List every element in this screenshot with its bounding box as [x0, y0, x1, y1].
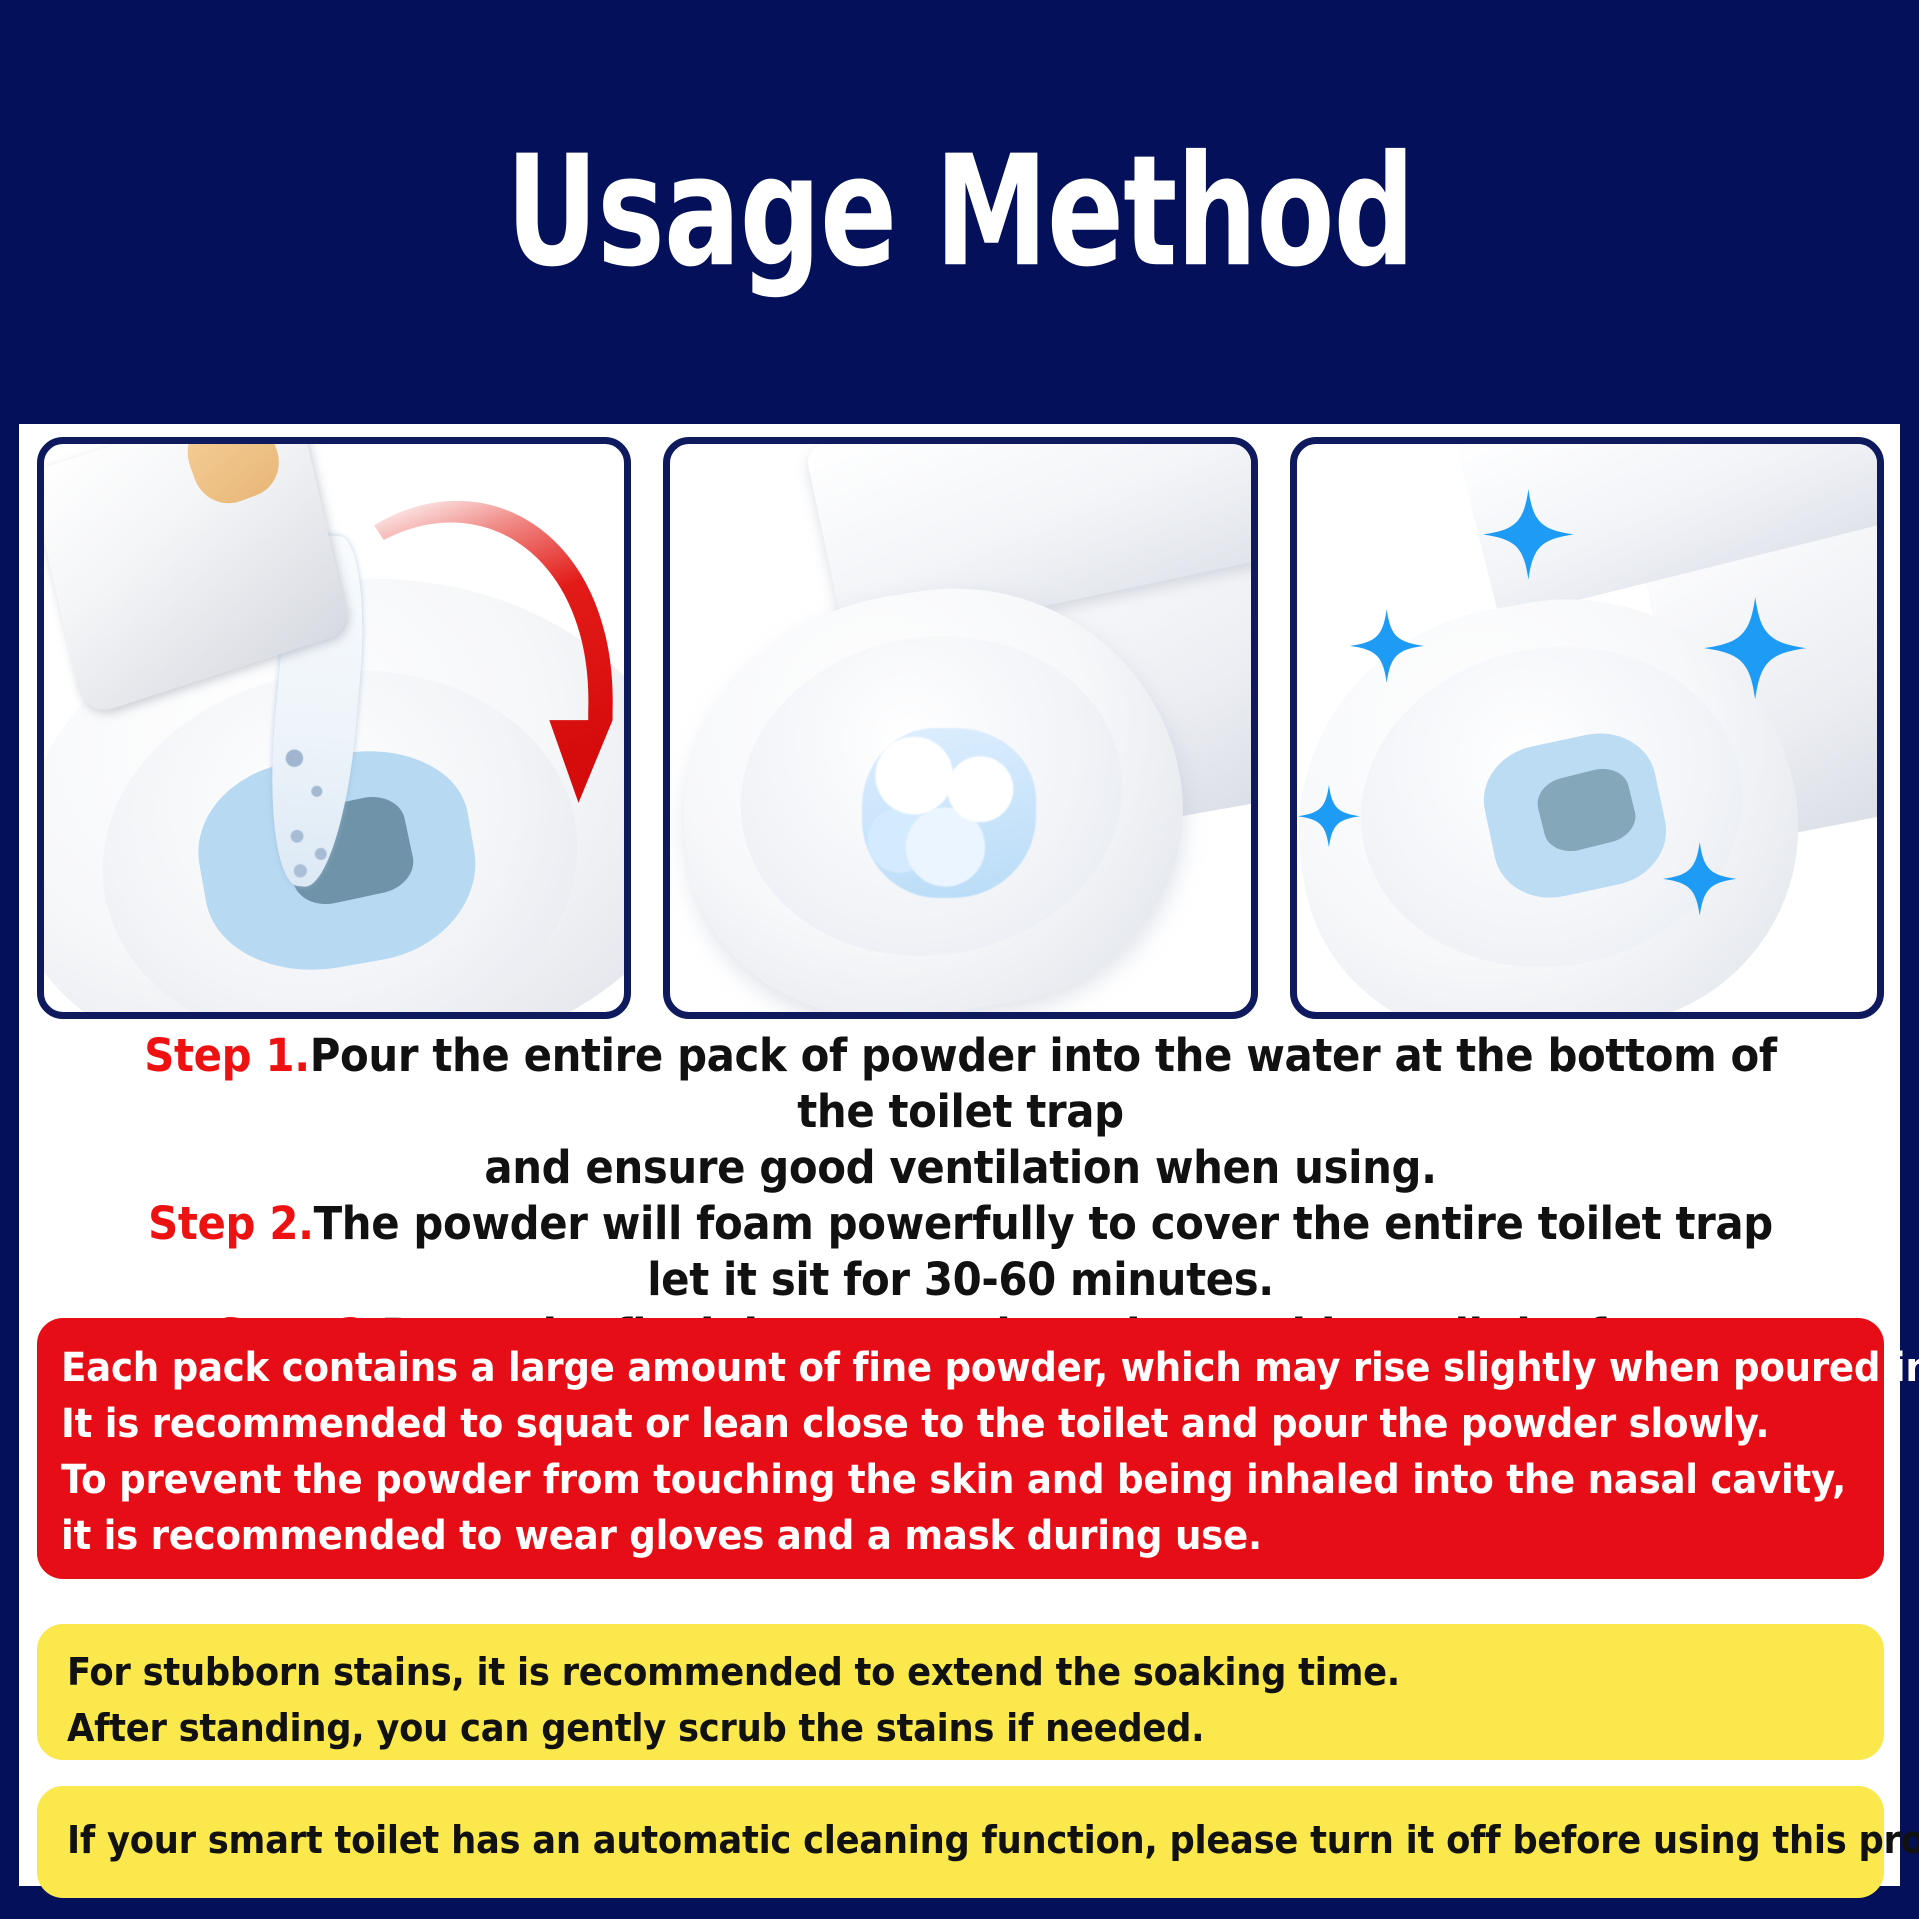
sparkle-icon [1662, 842, 1737, 916]
sparkle-icon [1349, 609, 1424, 683]
step-2-line-2: let it sit for 30-60 minutes. [102, 1252, 1820, 1308]
sparkle-icon [1297, 785, 1361, 847]
warning-line-3: To prevent the powder from touching the … [61, 1452, 1734, 1508]
tip-2-line-1: If your smart toilet has an automatic cl… [67, 1812, 1734, 1868]
header-banner: Usage Method [0, 0, 1919, 424]
tip-box-smart-toilet: If your smart toilet has an automatic cl… [37, 1786, 1884, 1898]
step-2-keyword: Step 2. [148, 1197, 313, 1250]
warning-line-4: it is recommended to wear gloves and a m… [61, 1508, 1734, 1564]
sparkle-icon [1703, 597, 1807, 699]
red-down-arrow-icon [369, 501, 613, 842]
illustration-panel-row [37, 437, 1884, 1019]
panel-clean-result [1290, 437, 1884, 1019]
sparkle-icon [1482, 489, 1575, 580]
page-title: Usage Method [505, 135, 1413, 288]
tip-1-line-2: After standing, you can gently scrub the… [67, 1700, 1734, 1756]
tip-1-line-1: For stubborn stains, it is recommended t… [67, 1644, 1734, 1700]
tip-box-soaking: For stubborn stains, it is recommended t… [37, 1624, 1884, 1760]
step-1-keyword: Step 1. [144, 1029, 309, 1082]
step-2-line-1: Step 2.The powder will foam powerfully t… [102, 1196, 1820, 1252]
panel-pour-powder [37, 437, 631, 1019]
step-1-text-1: Pour the entire pack of powder into the … [310, 1029, 1777, 1138]
warning-box: Each pack contains a large amount of fin… [37, 1318, 1884, 1579]
foam-shape [862, 728, 1036, 898]
clean-toilet-illustration [1297, 444, 1877, 1012]
step-1-line-1: Step 1.Pour the entire pack of powder in… [102, 1028, 1820, 1140]
content-area: Step 1.Pour the entire pack of powder in… [19, 424, 1900, 1886]
panel-foam-action [663, 437, 1257, 1019]
warning-line-2: It is recommended to squat or lean close… [61, 1396, 1734, 1452]
pour-powder-illustration [44, 444, 624, 1012]
warning-line-1: Each pack contains a large amount of fin… [61, 1340, 1734, 1396]
step-2-text-1: The powder will foam powerfully to cover… [314, 1197, 1773, 1250]
usage-method-infographic: Usage Method [0, 0, 1919, 1919]
foam-illustration [670, 444, 1250, 1012]
step-1-line-2: and ensure good ventilation when using. [102, 1140, 1820, 1196]
